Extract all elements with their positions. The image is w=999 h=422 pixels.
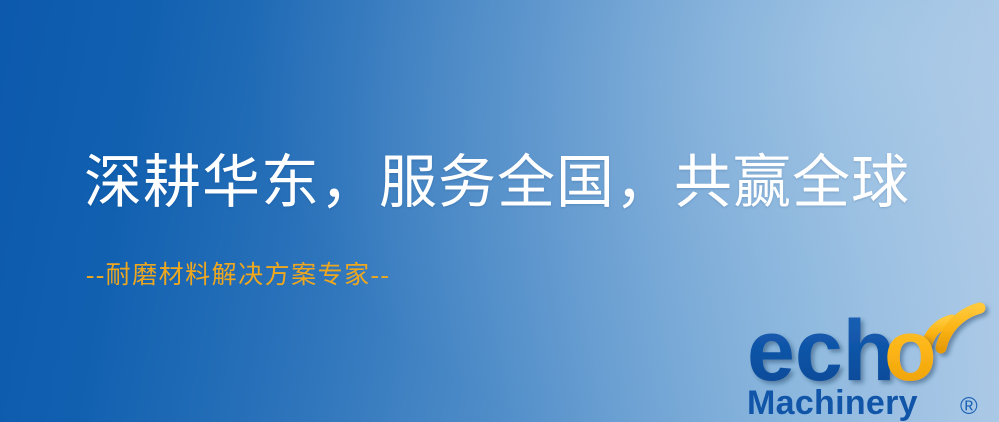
registered-trademark-icon: ® (960, 393, 978, 420)
logo-subwordmark: Machinery (747, 384, 918, 422)
echo-machinery-logo[interactable]: ech o Machinery ® (745, 294, 997, 422)
promo-banner: 深耕华东，服务全国，共赢全球 --耐磨材料解决方案专家-- (0, 0, 999, 422)
logo-graphic: ech o Machinery ® (745, 294, 997, 422)
banner-subtitle: --耐磨材料解决方案专家-- (86, 262, 390, 290)
banner-headline: 深耕华东，服务全国，共赢全球 (84, 152, 910, 213)
signal-arc-outer (941, 308, 980, 348)
